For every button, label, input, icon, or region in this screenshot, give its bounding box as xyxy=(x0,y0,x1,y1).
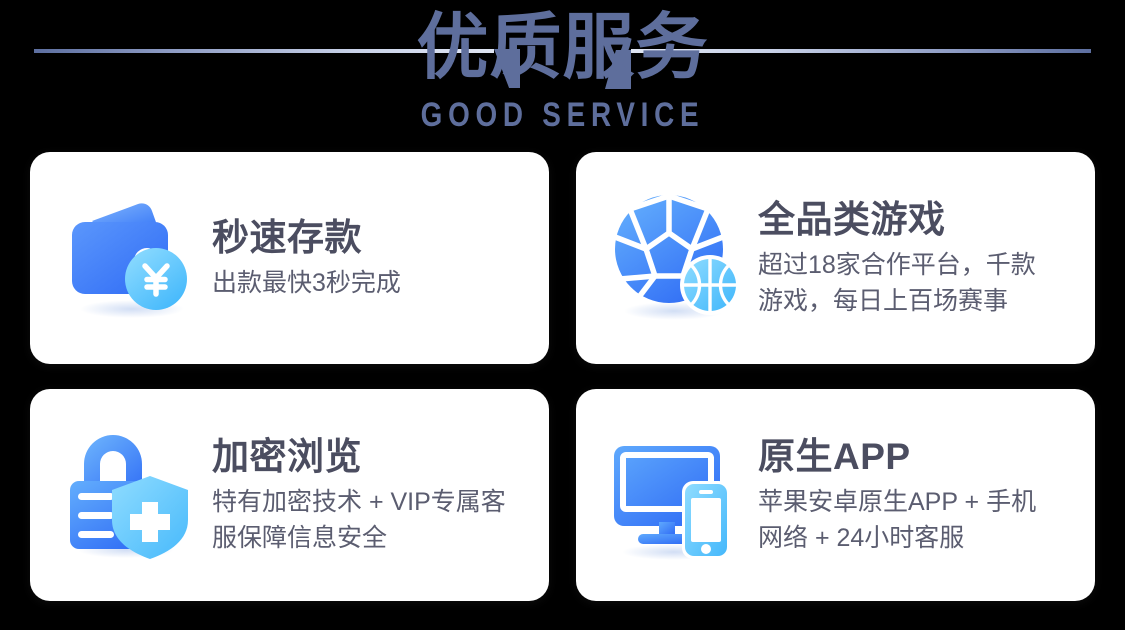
card-subtitle: 特有加密技术 + VIP专属客 服保障信息安全 xyxy=(212,484,527,556)
soccer-basketball-icon xyxy=(606,187,748,329)
card-subtitle: 苹果安卓原生APP + 手机 网络 + 24小时客服 xyxy=(758,484,1073,556)
feature-card-encryption[interactable]: 加密浏览 特有加密技术 + VIP专属客 服保障信息安全 xyxy=(30,389,549,601)
feature-card-native-app[interactable]: 原生APP 苹果安卓原生APP + 手机 网络 + 24小时客服 xyxy=(576,389,1095,601)
page-subtitle: GOOD SERVICE xyxy=(101,96,1024,134)
card-title: 加密浏览 xyxy=(212,435,527,479)
feature-card-deposit[interactable]: 秒速存款 出款最快3秒完成 xyxy=(30,152,549,364)
page-header: 优质服务 GOOD SERVICE xyxy=(0,0,1125,150)
card-subtitle-line: 网络 + 24小时客服 xyxy=(758,520,1073,556)
card-title: 全品类游戏 xyxy=(758,198,1073,242)
feature-card-grid: 秒速存款 出款最快3秒完成 xyxy=(30,152,1095,612)
card-subtitle: 出款最快3秒完成 xyxy=(212,265,527,301)
card-subtitle-line: 出款最快3秒完成 xyxy=(212,265,527,301)
card-subtitle-line: 特有加密技术 + VIP专属客 xyxy=(212,484,527,520)
card-subtitle-line: 苹果安卓原生APP + 手机 xyxy=(758,484,1073,520)
card-title: 原生APP xyxy=(758,435,1073,479)
card-text-block: 秒速存款 出款最快3秒完成 xyxy=(212,216,527,301)
card-text-block: 加密浏览 特有加密技术 + VIP专属客 服保障信息安全 xyxy=(212,435,527,556)
card-subtitle: 超过18家合作平台，千款 游戏，每日上百场赛事 xyxy=(758,247,1073,319)
card-title: 秒速存款 xyxy=(212,216,527,260)
card-subtitle-line: 服保障信息安全 xyxy=(212,520,527,556)
page-title: 优质服务 xyxy=(0,8,1125,88)
card-subtitle-line: 游戏，每日上百场赛事 xyxy=(758,283,1073,319)
promo-page: 优质服务 GOOD SERVICE xyxy=(0,0,1125,630)
lock-shield-icon xyxy=(60,424,202,566)
card-text-block: 原生APP 苹果安卓原生APP + 手机 网络 + 24小时客服 xyxy=(758,435,1073,556)
card-text-block: 全品类游戏 超过18家合作平台，千款 游戏，每日上百场赛事 xyxy=(758,198,1073,319)
card-subtitle-line: 超过18家合作平台，千款 xyxy=(758,247,1073,283)
feature-card-games[interactable]: 全品类游戏 超过18家合作平台，千款 游戏，每日上百场赛事 xyxy=(576,152,1095,364)
monitor-phone-icon xyxy=(606,424,748,566)
wallet-yen-icon xyxy=(60,187,202,329)
